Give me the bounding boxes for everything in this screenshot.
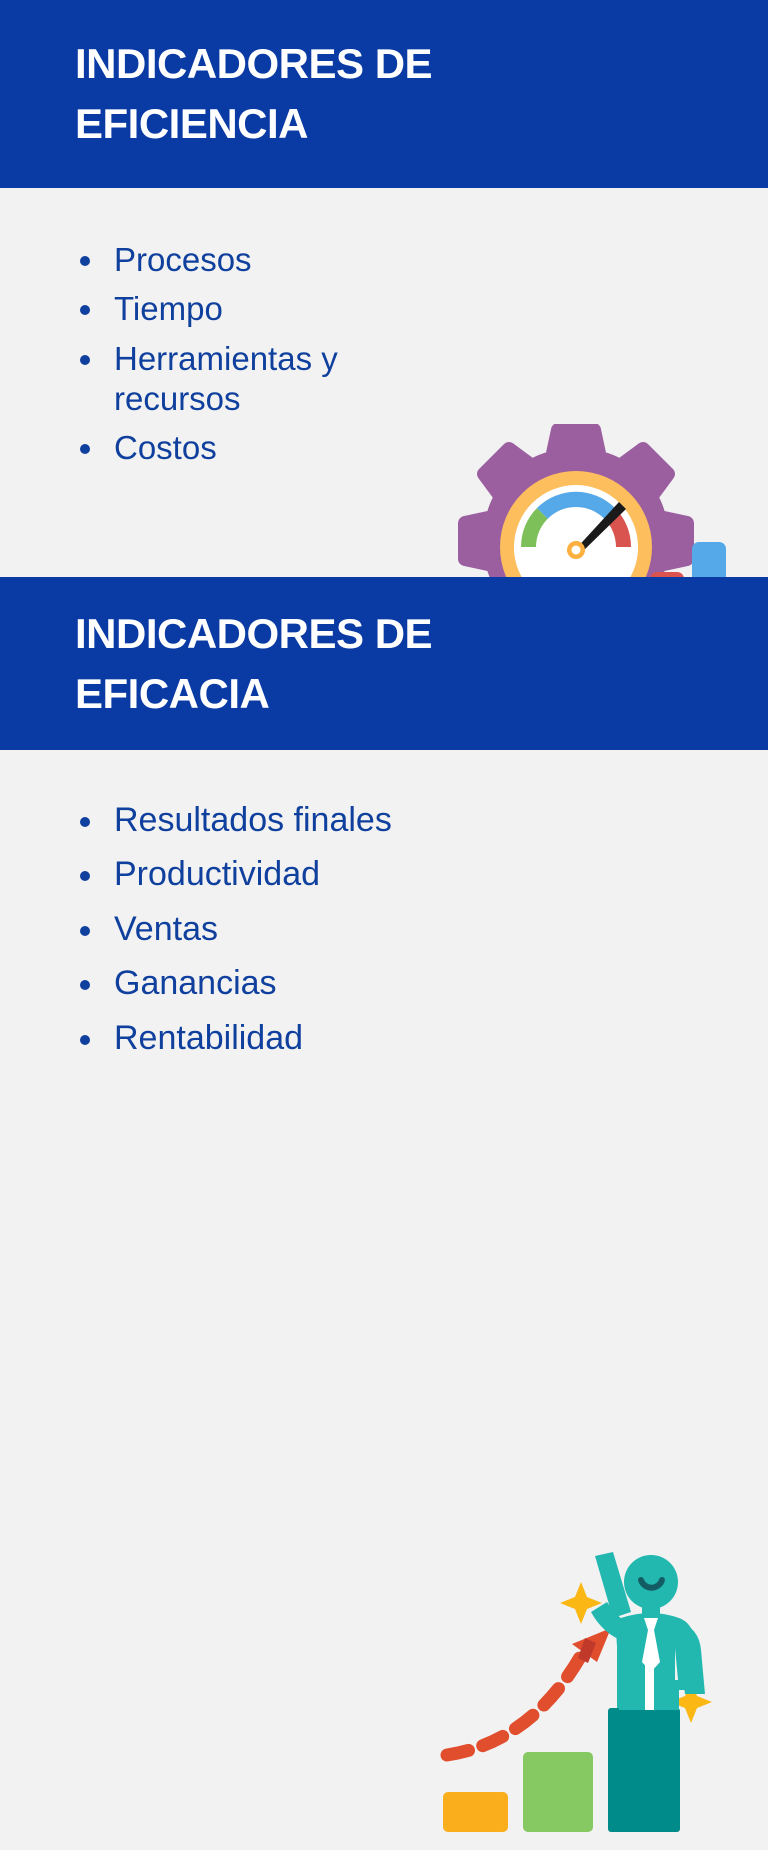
list-item: Procesos — [72, 240, 427, 280]
list-item: Herramientas y recursos — [72, 339, 427, 420]
page-title-eficiencia: INDICADORES DE EFICIENCIA — [75, 34, 545, 153]
content-section-eficacia: Resultados finales Productividad Ventas … — [0, 750, 768, 1152]
head — [624, 1555, 678, 1609]
list-item: Ganancias — [72, 963, 472, 1004]
success-person-bar-chart-illustration — [435, 1540, 740, 1845]
header-band-eficacia: INDICADORES DE EFICACIA — [0, 577, 768, 750]
list-item: Rentabilidad — [72, 1018, 472, 1059]
header-band-eficiencia: INDICADORES DE EFICIENCIA — [0, 0, 768, 188]
bar-1 — [443, 1792, 508, 1832]
bar-chart-icon — [443, 1708, 680, 1832]
list-item: Productividad — [72, 854, 472, 895]
list-item: Resultados finales — [72, 800, 472, 841]
rising-arrow-icon — [447, 1628, 611, 1755]
bullet-list-eficacia: Resultados finales Productividad Ventas … — [72, 800, 472, 1072]
bar-2 — [523, 1752, 593, 1832]
person-celebrating-icon — [591, 1552, 705, 1710]
list-item: Ventas — [72, 909, 472, 950]
list-item: Tiempo — [72, 289, 427, 329]
bullet-list-eficiencia: Procesos Tiempo Herramientas y recursos … — [72, 240, 427, 477]
list-item: Costos — [72, 428, 427, 468]
bar-3-pedestal — [608, 1708, 680, 1832]
content-section-eficiencia: Procesos Tiempo Herramientas y recursos … — [0, 188, 768, 577]
page-title-eficacia: INDICADORES DE EFICACIA — [75, 604, 545, 723]
infographic-page: INDICADORES DE EFICIENCIA Procesos Tiemp… — [0, 0, 768, 1152]
